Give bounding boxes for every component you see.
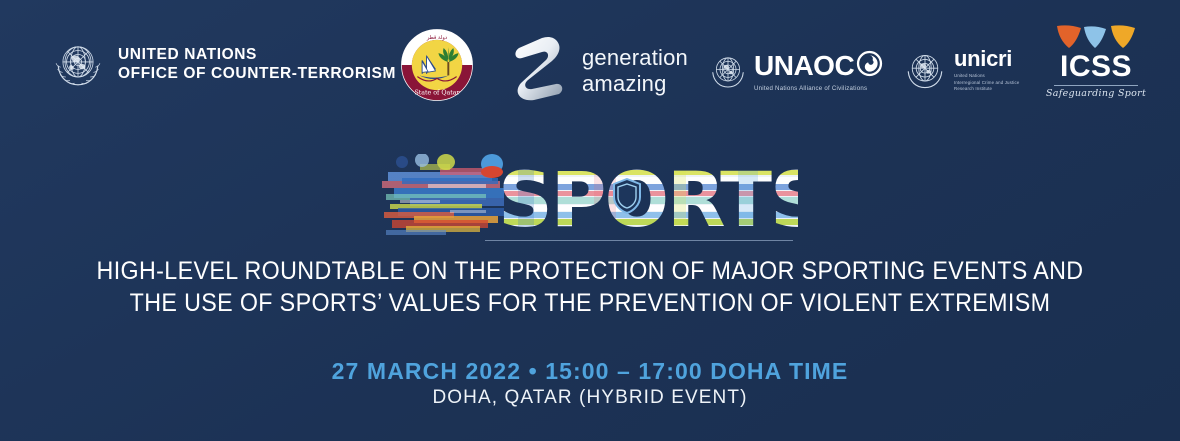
event-date-time: 27 MARCH 2022 • 15:00 – 17:00 DOHA TIME	[0, 358, 1180, 385]
ga-line2: amazing	[582, 71, 688, 97]
logo-state-of-qatar: State of Qatar دولة قطر	[400, 28, 474, 107]
paint-streak-graphic	[380, 154, 516, 242]
un-emblem-icon	[903, 48, 947, 92]
sports-wordmark: SPORTS	[0, 152, 1180, 256]
un-emblem-icon	[708, 51, 748, 91]
un-emblem-icon	[52, 38, 104, 90]
event-location: DOHA, QATAR (HYBRID EVENT)	[0, 387, 1180, 409]
logo-unaoc: UNAOC United Nations Alliance of Civiliz…	[708, 50, 883, 92]
unicri-subtitle-line1: United Nations	[954, 73, 1019, 80]
logo-unoct: UNITED NATIONS OFFICE OF COUNTER-TERRORI…	[52, 38, 396, 90]
shield-icon	[612, 178, 642, 214]
svg-text:دولة قطر: دولة قطر	[426, 35, 447, 41]
qatar-caption: State of Qatar	[414, 90, 459, 97]
unicri-wordmark: unicri	[954, 48, 1019, 70]
partner-logo-strip: UNITED NATIONS OFFICE OF COUNTER-TERRORI…	[0, 18, 1180, 110]
wordmark-divider	[485, 240, 793, 241]
unoct-line2: OFFICE OF COUNTER-TERRORISM	[118, 64, 396, 83]
unoct-line1: UNITED NATIONS	[118, 45, 396, 64]
unaoc-subtitle: United Nations Alliance of Civilizations	[754, 85, 883, 92]
headline-line2: THE USE OF SPORTS’ VALUES FOR THE PREVEN…	[41, 287, 1138, 319]
logo-icss: ICSS Safeguarding Sport	[1046, 24, 1146, 99]
ga-line1: generation	[582, 45, 688, 71]
event-banner: UNITED NATIONS OFFICE OF COUNTER-TERRORI…	[0, 0, 1180, 441]
unicri-label: unicri United Nations Interregional Crim…	[954, 48, 1019, 93]
unaoc-label: UNAOC United Nations Alliance of Civiliz…	[754, 50, 883, 92]
unicri-subtitle-line2: Interregional Crime and Justice	[954, 80, 1019, 87]
svg-text:SPORTS: SPORTS	[498, 158, 798, 242]
headline-line1: HIGH-LEVEL ROUNDTABLE ON THE PROTECTION …	[41, 255, 1138, 287]
page-title: HIGH-LEVEL ROUNDTABLE ON THE PROTECTION …	[41, 255, 1138, 319]
unoct-label: UNITED NATIONS OFFICE OF COUNTER-TERRORI…	[118, 45, 396, 84]
generation-amazing-bolt-icon	[512, 34, 570, 107]
unicri-subtitle: United Nations Interregional Crime and J…	[954, 73, 1019, 93]
unicri-subtitle-line3: Research Institute	[954, 86, 1019, 93]
icss-tagline: Safeguarding Sport	[1046, 88, 1146, 99]
icss-divider	[1054, 85, 1138, 86]
unaoc-swirl-icon	[856, 50, 883, 82]
icss-three-shields-icon	[1053, 24, 1139, 50]
unaoc-word-text: UNAOC	[754, 52, 854, 80]
logo-unicri: unicri United Nations Interregional Crim…	[903, 48, 1019, 93]
icss-wordmark: ICSS	[1046, 52, 1146, 82]
logo-generation-amazing: generation amazing	[512, 34, 688, 107]
unaoc-wordmark: UNAOC	[754, 50, 883, 82]
generation-amazing-label: generation amazing	[582, 45, 688, 97]
state-of-qatar-emblem-icon: State of Qatar دولة قطر	[400, 28, 474, 107]
